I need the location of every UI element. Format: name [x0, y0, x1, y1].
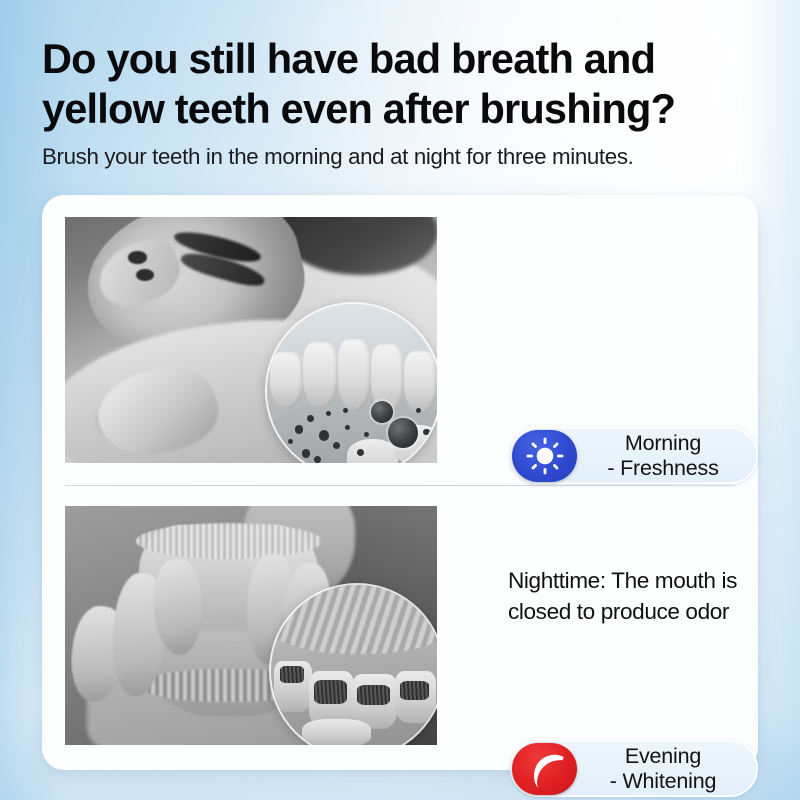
nostril-right	[136, 269, 155, 281]
magnifier-bacteria	[267, 304, 437, 463]
bacteria-speck	[416, 408, 421, 413]
bacteria-speck	[314, 456, 321, 463]
bacteria-speck	[319, 430, 329, 440]
magnifier-stained-teeth	[271, 585, 437, 745]
header: Do you still have bad breath and yellow …	[42, 34, 768, 171]
bacteria-large	[388, 418, 417, 447]
moon-icon	[512, 743, 577, 795]
badge-evening-label: Evening - Whitening	[577, 744, 758, 794]
photo-drinking-woman	[65, 506, 437, 745]
bacteria-speck	[288, 439, 293, 444]
page-subtitle: Brush your teeth in the morning and at n…	[42, 143, 768, 171]
lower-tooth	[302, 719, 371, 745]
photo-sleeping-woman	[65, 217, 437, 463]
content-card: Morning - Freshness Nighttime: The mouth…	[42, 195, 758, 770]
bacteria-speck	[333, 442, 340, 449]
pigment-stain	[357, 685, 390, 706]
tooth	[270, 352, 303, 407]
badge-morning-label: Morning - Freshness	[577, 431, 758, 481]
glass-rim	[136, 523, 322, 559]
pigment-stain	[314, 680, 347, 704]
bacteria-speck	[307, 415, 314, 422]
nostril-left	[128, 251, 147, 263]
pigment-stain	[280, 666, 304, 683]
bacteria-speck	[302, 449, 311, 458]
sun-icon	[512, 430, 577, 482]
tooth	[303, 342, 338, 408]
tooth	[404, 351, 437, 413]
pigment-stain	[400, 681, 429, 700]
bacteria-speck	[423, 429, 430, 436]
page-title: Do you still have bad breath and yellow …	[42, 34, 768, 134]
tooth	[338, 339, 371, 412]
upper-lip	[271, 585, 437, 654]
bacteria-speck	[295, 425, 304, 434]
promo-page: Do you still have bad breath and yellow …	[0, 0, 800, 800]
section-evening: Evening - Whitening Daytime Coffee, Tea …	[42, 486, 758, 770]
badge-morning[interactable]: Morning - Freshness	[510, 427, 758, 484]
section-morning: Morning - Freshness Nighttime: The mouth…	[42, 195, 758, 485]
badge-evening[interactable]: Evening - Whitening	[510, 740, 758, 797]
